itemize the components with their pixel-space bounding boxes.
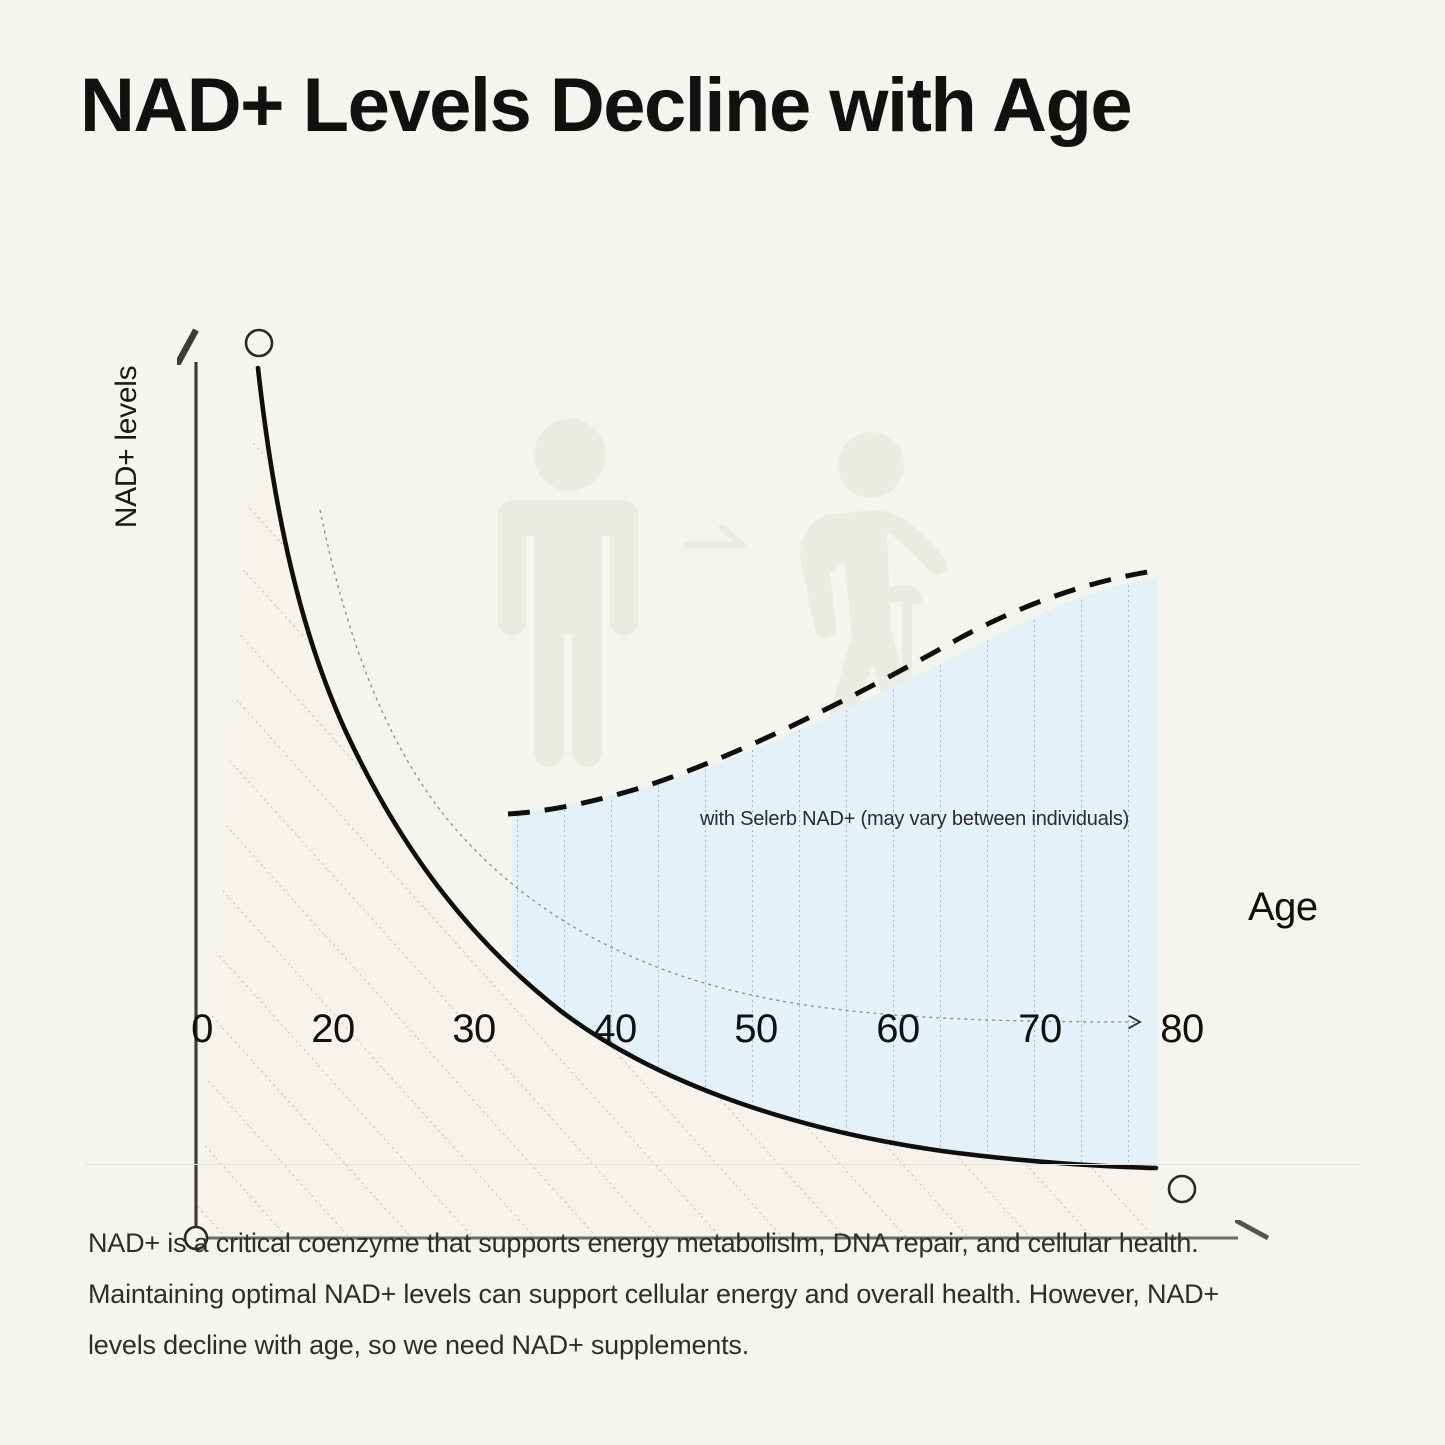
x-axis-label: Age	[1248, 885, 1318, 930]
peak-marker	[246, 330, 272, 356]
series-note-annotation: with Selerb NAD+ (may vary between indiv…	[700, 808, 1129, 831]
nad-decline-chart	[0, 300, 1445, 1090]
description-line-1: NAD+ is a critical coenzyme that support…	[88, 1218, 1378, 1269]
x-tick-30: 30	[452, 1007, 496, 1052]
page-title: NAD+ Levels Decline with Age	[80, 68, 1131, 144]
young-person-icon	[498, 419, 638, 767]
x-tick-0: 0	[191, 1007, 213, 1052]
x-axis-tick-labels: 0 20 30 40 50 60 70 80	[0, 1007, 1445, 1057]
x-tick-80: 80	[1160, 1007, 1204, 1052]
endpoint-marker	[1169, 1176, 1195, 1202]
x-tick-60: 60	[876, 1007, 920, 1052]
x-tick-40: 40	[593, 1007, 637, 1052]
description-line-2: Maintaining optimal NAD+ levels can supp…	[88, 1269, 1378, 1320]
section-divider	[86, 1164, 1360, 1165]
description-paragraph: NAD+ is a critical coenzyme that support…	[88, 1218, 1378, 1371]
description-line-3: levels decline with age, so we need NAD+…	[88, 1320, 1378, 1371]
arrow-right-icon	[684, 528, 742, 545]
x-tick-50: 50	[734, 1007, 778, 1052]
x-tick-20: 20	[311, 1007, 355, 1052]
y-axis-label: NAD+ levels	[110, 317, 144, 577]
x-tick-70: 70	[1018, 1007, 1062, 1052]
infographic-page: NAD+ Levels Decline with Age	[0, 0, 1445, 1445]
chart-container: NAD+ levels Age with Selerb NAD+ (may va…	[0, 300, 1445, 1090]
